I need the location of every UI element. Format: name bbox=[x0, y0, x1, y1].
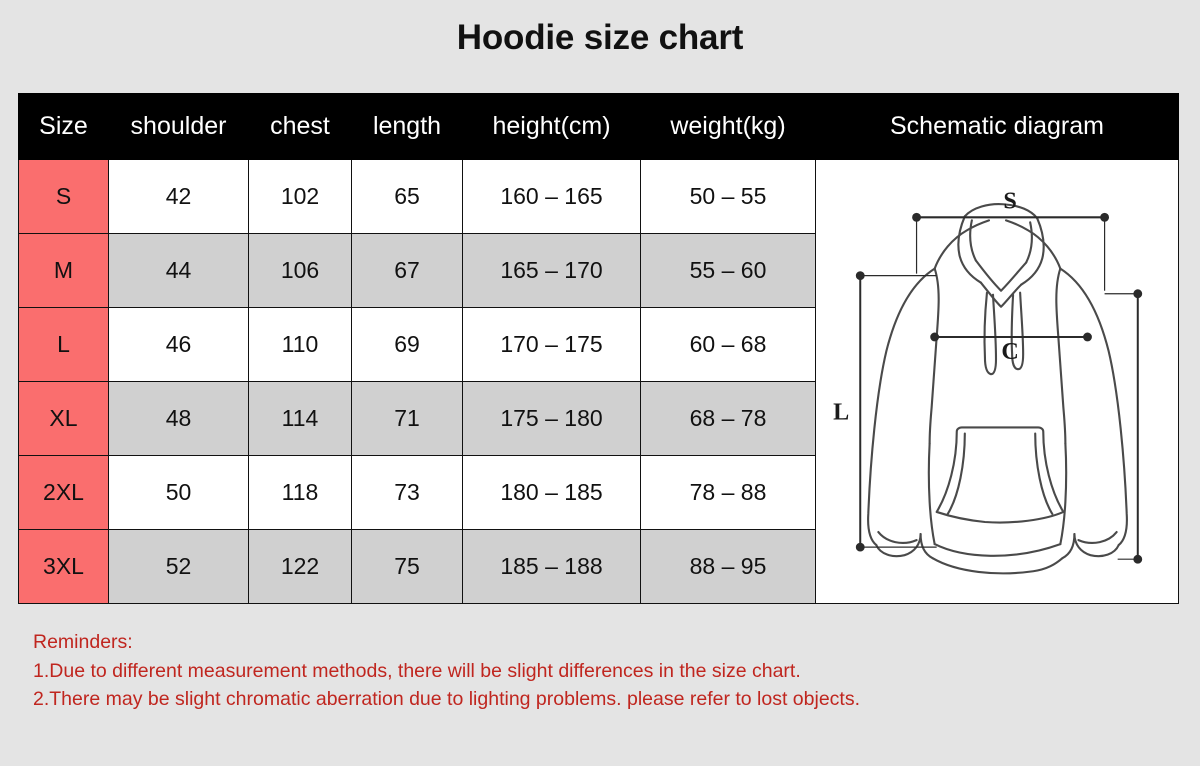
cell-weight: 78 – 88 bbox=[641, 456, 816, 530]
cell-shoulder: 48 bbox=[109, 382, 249, 456]
diagram-label-chest: C bbox=[1001, 338, 1018, 365]
cell-shoulder: 44 bbox=[109, 234, 249, 308]
cell-shoulder: 52 bbox=[109, 530, 249, 604]
cell-size: S bbox=[19, 160, 109, 234]
cell-shoulder: 50 bbox=[109, 456, 249, 530]
cell-height: 175 – 180 bbox=[463, 382, 641, 456]
reminders-block: Reminders: 1.Due to different measuremen… bbox=[33, 628, 860, 714]
column-header-shoulder: shoulder bbox=[109, 94, 249, 160]
page-title: Hoodie size chart bbox=[0, 18, 1200, 58]
cell-height: 165 – 170 bbox=[463, 234, 641, 308]
cell-size: 3XL bbox=[19, 530, 109, 604]
cell-chest: 102 bbox=[249, 160, 352, 234]
cell-weight: 88 – 95 bbox=[641, 530, 816, 604]
schematic-diagram-cell: S C L bbox=[816, 160, 1179, 604]
cell-length: 69 bbox=[352, 308, 463, 382]
column-header-height: height(cm) bbox=[463, 94, 641, 160]
table-header-row: Size shoulder chest length height(cm) we… bbox=[19, 94, 1179, 160]
size-chart-table: Size shoulder chest length height(cm) we… bbox=[18, 93, 1179, 604]
cell-size: L bbox=[19, 308, 109, 382]
cell-chest: 122 bbox=[249, 530, 352, 604]
cell-size: 2XL bbox=[19, 456, 109, 530]
cell-length: 75 bbox=[352, 530, 463, 604]
cell-chest: 110 bbox=[249, 308, 352, 382]
cell-chest: 118 bbox=[249, 456, 352, 530]
column-header-schematic-diagram: Schematic diagram bbox=[816, 94, 1179, 160]
cell-height: 170 – 175 bbox=[463, 308, 641, 382]
cell-length: 65 bbox=[352, 160, 463, 234]
cell-chest: 114 bbox=[249, 382, 352, 456]
cell-chest: 106 bbox=[249, 234, 352, 308]
cell-size: M bbox=[19, 234, 109, 308]
cell-size: XL bbox=[19, 382, 109, 456]
column-header-weight: weight(kg) bbox=[641, 94, 816, 160]
cell-length: 71 bbox=[352, 382, 463, 456]
column-header-length: length bbox=[352, 94, 463, 160]
table-row: S 42 102 65 160 – 165 50 – 55 bbox=[19, 160, 1179, 234]
cell-weight: 50 – 55 bbox=[641, 160, 816, 234]
cell-height: 180 – 185 bbox=[463, 456, 641, 530]
cell-weight: 68 – 78 bbox=[641, 382, 816, 456]
cell-weight: 60 – 68 bbox=[641, 308, 816, 382]
cell-shoulder: 46 bbox=[109, 308, 249, 382]
hoodie-diagram-icon: S C L bbox=[816, 160, 1178, 602]
diagram-label-shoulder: S bbox=[1003, 188, 1016, 215]
cell-length: 67 bbox=[352, 234, 463, 308]
cell-shoulder: 42 bbox=[109, 160, 249, 234]
cell-weight: 55 – 60 bbox=[641, 234, 816, 308]
column-header-size: Size bbox=[19, 94, 109, 160]
cell-length: 73 bbox=[352, 456, 463, 530]
cell-height: 185 – 188 bbox=[463, 530, 641, 604]
cell-height: 160 – 165 bbox=[463, 160, 641, 234]
reminder-line-2: 2.There may be slight chromatic aberrati… bbox=[33, 685, 860, 714]
column-header-chest: chest bbox=[249, 94, 352, 160]
diagram-label-length: L bbox=[833, 399, 849, 426]
reminders-heading: Reminders: bbox=[33, 628, 860, 657]
reminder-line-1: 1.Due to different measurement methods, … bbox=[33, 657, 860, 686]
